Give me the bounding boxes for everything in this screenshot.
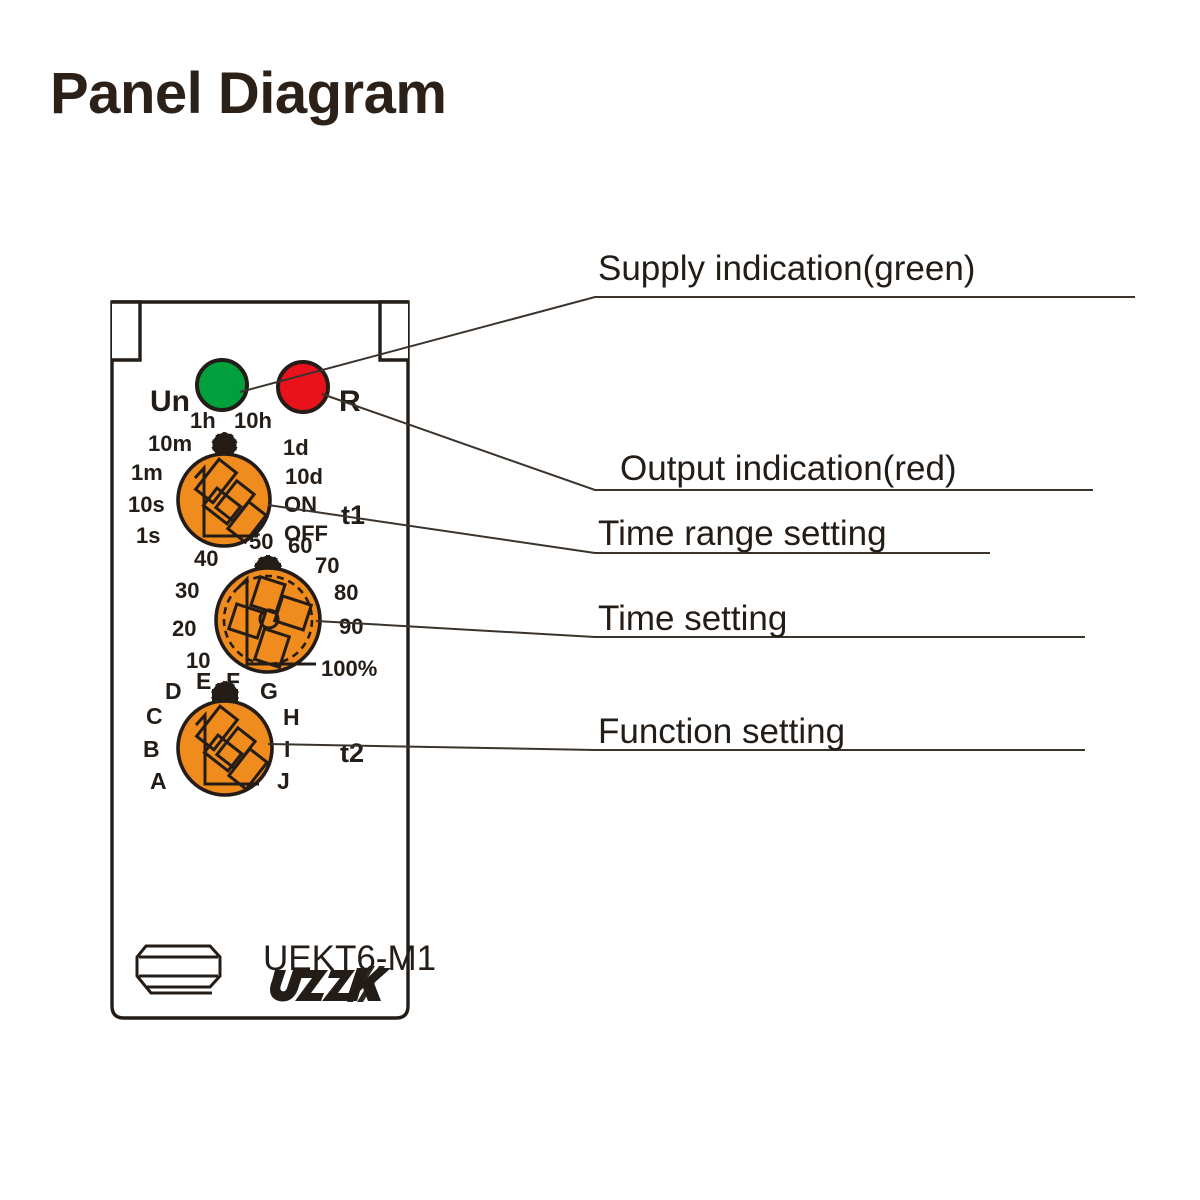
svg-text:60: 60 [288, 533, 312, 558]
svg-text:10h: 10h [234, 408, 272, 433]
callout-time-range-setting: Time range setting [598, 514, 887, 553]
svg-text:ON: ON [284, 492, 317, 517]
svg-text:1s: 1s [136, 523, 160, 548]
svg-text:E: E [196, 668, 211, 694]
svg-text:100%: 100% [321, 656, 377, 681]
svg-text:80: 80 [334, 580, 358, 605]
supply-led-label: Un [150, 385, 190, 418]
svg-text:10m: 10m [148, 431, 192, 456]
svg-text:70: 70 [315, 553, 339, 578]
svg-text:1m: 1m [131, 460, 163, 485]
callout-function-setting: Function setting [598, 712, 845, 751]
supply-led-green [197, 360, 247, 410]
svg-text:F: F [226, 668, 240, 694]
dial3-marker-label: t2 [340, 738, 364, 768]
svg-text:J: J [277, 768, 290, 794]
callout-labels: Supply indication(green) Output indicati… [598, 249, 975, 751]
callout-supply-indication: Supply indication(green) [598, 249, 975, 288]
callout-time-setting: Time setting [598, 599, 787, 638]
svg-text:I: I [284, 736, 290, 762]
svg-text:A: A [150, 768, 167, 794]
dial2-knurl [224, 576, 312, 664]
panel-diagram-stage: Panel Diagram Un R [0, 0, 1200, 1200]
svg-text:H: H [283, 704, 300, 730]
svg-text:D: D [165, 678, 182, 704]
svg-text:40: 40 [194, 546, 218, 571]
callout-output-indication: Output indication(red) [620, 449, 957, 488]
svg-text:30: 30 [175, 578, 199, 603]
svg-text:1d: 1d [283, 435, 309, 460]
svg-text:20: 20 [172, 616, 196, 641]
diagram-canvas: Un R [0, 0, 1200, 1200]
svg-text:10s: 10s [128, 492, 165, 517]
svg-text:B: B [143, 736, 160, 762]
svg-text:50: 50 [249, 529, 273, 554]
mounting-tab-left [112, 302, 140, 360]
dial1-marker-label: t1 [341, 500, 365, 530]
dial3-knob[interactable] [178, 701, 272, 795]
svg-text:G: G [260, 678, 278, 704]
svg-text:10d: 10d [285, 464, 323, 489]
svg-text:1h: 1h [190, 408, 216, 433]
svg-text:90: 90 [339, 614, 363, 639]
svg-text:C: C [146, 703, 163, 729]
